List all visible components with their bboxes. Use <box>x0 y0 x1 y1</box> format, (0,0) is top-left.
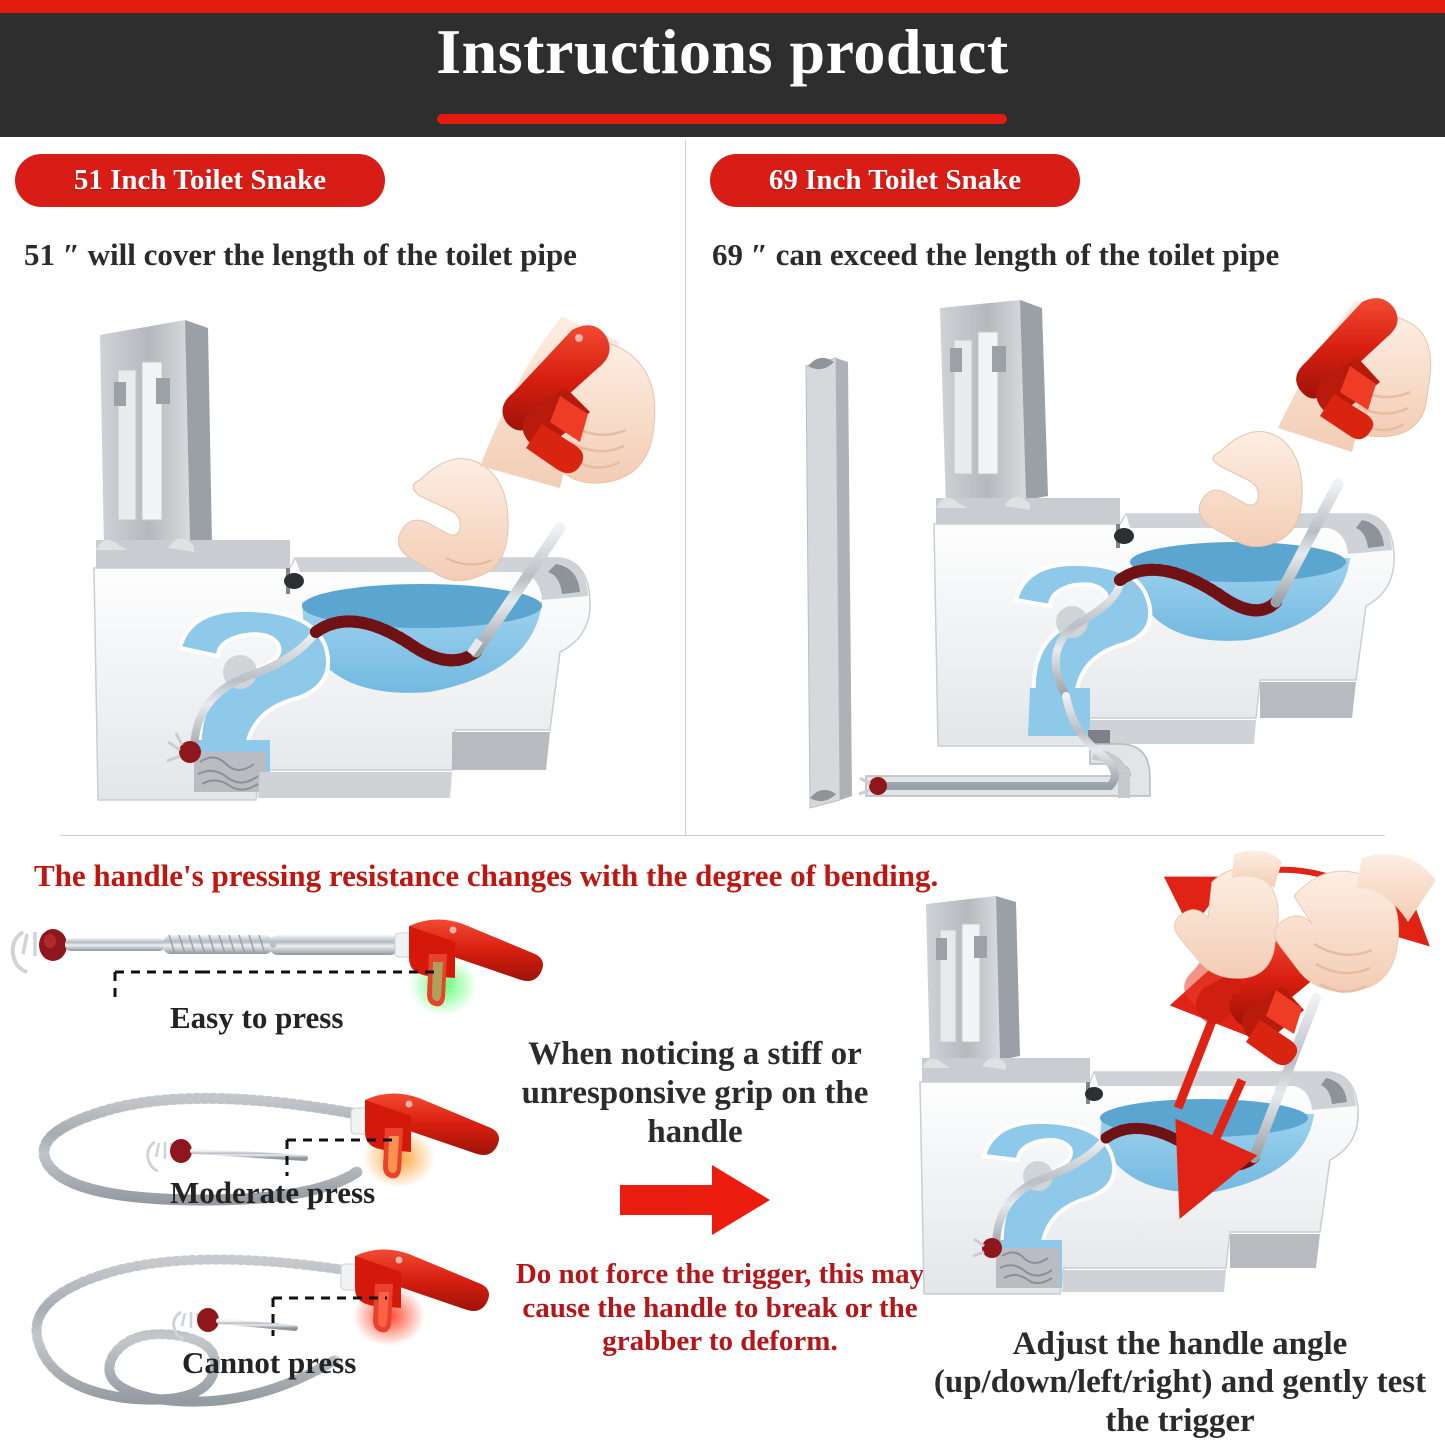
badge-51-inch: 51 Inch Toilet Snake <box>15 154 385 207</box>
infographic-page: Instructions product 51 Inch Toilet Snak… <box>0 0 1445 1445</box>
vertical-divider <box>685 140 686 835</box>
label-moderate-press: Moderate press <box>170 1175 375 1211</box>
illustration-cannot-press <box>5 1248 545 1433</box>
illustration-adjust-angle <box>912 848 1442 1328</box>
illustration-toilet-51 <box>90 300 680 820</box>
caption-69-inch: 69 ″ can exceed the length of the toilet… <box>712 237 1279 273</box>
illustration-toilet-69 <box>790 300 1430 830</box>
horizontal-divider <box>60 835 1385 836</box>
caption-51-inch: 51 ″ will cover the length of the toilet… <box>24 237 577 273</box>
adjust-angle-text: Adjust the handle angle (up/down/left/ri… <box>930 1325 1430 1440</box>
top-accent-bar <box>0 0 1445 13</box>
warning-text: Do not force the trigger, this may cause… <box>500 1258 940 1359</box>
page-title: Instructions product <box>0 20 1445 84</box>
title-underline <box>437 114 1007 124</box>
stiff-grip-text: When noticing a stiff or unresponsive gr… <box>510 1035 880 1152</box>
bending-heading: The handle's pressing resistance changes… <box>34 858 938 894</box>
label-cannot-press: Cannot press <box>182 1345 356 1381</box>
label-easy-to-press: Easy to press <box>170 1000 343 1036</box>
right-arrow-icon <box>620 1165 770 1235</box>
badge-69-inch: 69 Inch Toilet Snake <box>710 154 1080 207</box>
